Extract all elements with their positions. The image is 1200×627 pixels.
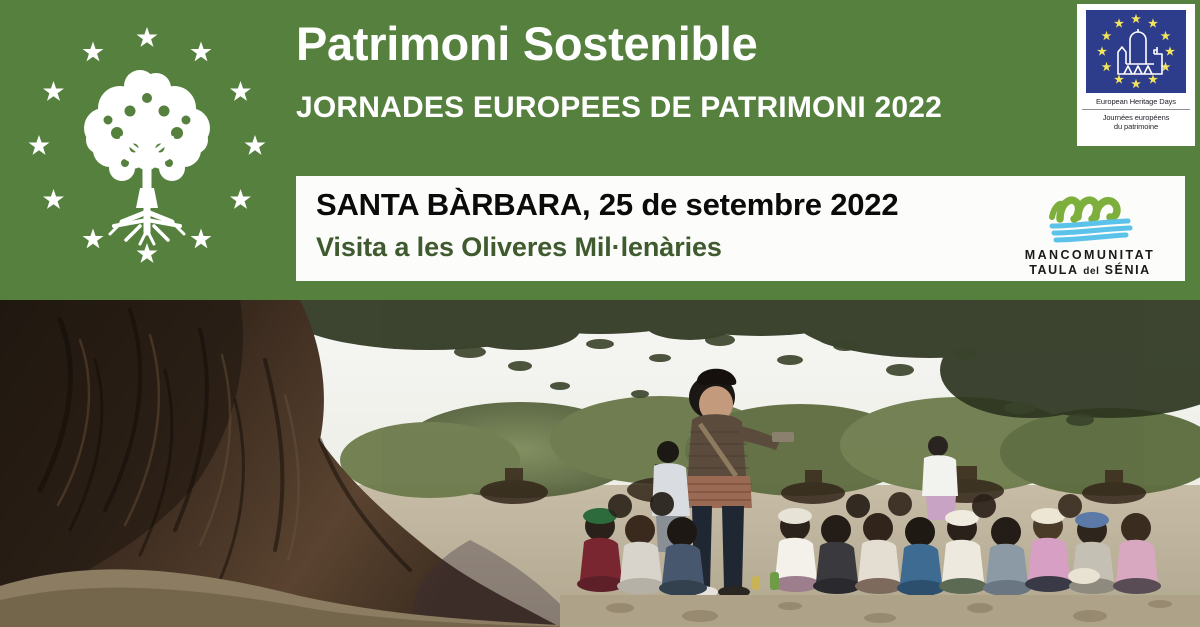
- ehd-logo-line-fr: Journées européens du patrimoine: [1082, 110, 1190, 132]
- mancomunitat-m-waves-icon: [1030, 187, 1150, 245]
- ehd-logo-line-fr-a: Journées européens: [1103, 113, 1170, 122]
- ehd-logo-line-en: European Heritage Days: [1082, 97, 1190, 110]
- mancomunitat-name-line1: MANCOMUNITAT: [1025, 248, 1155, 262]
- european-heritage-days-monument-icon: [1082, 10, 1190, 93]
- mancomunitat-logo: MANCOMUNITAT TAULA del SÉNIA: [995, 176, 1185, 281]
- event-activity: Visita a les Oliveres Mil·lenàries: [316, 232, 995, 263]
- ehd-logo-line-fr-b: du patrimoine: [1114, 122, 1158, 131]
- page-title: Patrimoni Sostenible: [296, 20, 1066, 67]
- page-subtitle: JORNADES EUROPEES DE PATRIMONI 2022: [296, 91, 1066, 125]
- mancomunitat-name-senia: SÉNIA: [1105, 263, 1151, 277]
- event-details-text: SANTA BÀRBARA, 25 de setembre 2022 Visit…: [296, 176, 995, 281]
- tree-with-roots-and-stars-icon: [22, 8, 272, 283]
- european-heritage-days-logo: European Heritage Days Journées européen…: [1077, 4, 1195, 146]
- mancomunitat-name-taula: TAULA: [1029, 263, 1078, 277]
- title-block: Patrimoni Sostenible JORNADES EUROPEES D…: [296, 20, 1066, 125]
- olive-grove-school-visit-photo: [0, 300, 1200, 627]
- event-details-banner: SANTA BÀRBARA, 25 de setembre 2022 Visit…: [296, 176, 1185, 281]
- mancomunitat-name-del: del: [1083, 266, 1099, 277]
- mancomunitat-name-line2: TAULA del SÉNIA: [1029, 263, 1151, 277]
- event-place-and-date: SANTA BÀRBARA, 25 de setembre 2022: [316, 187, 995, 223]
- poster: Patrimoni Sostenible JORNADES EUROPEES D…: [0, 0, 1200, 627]
